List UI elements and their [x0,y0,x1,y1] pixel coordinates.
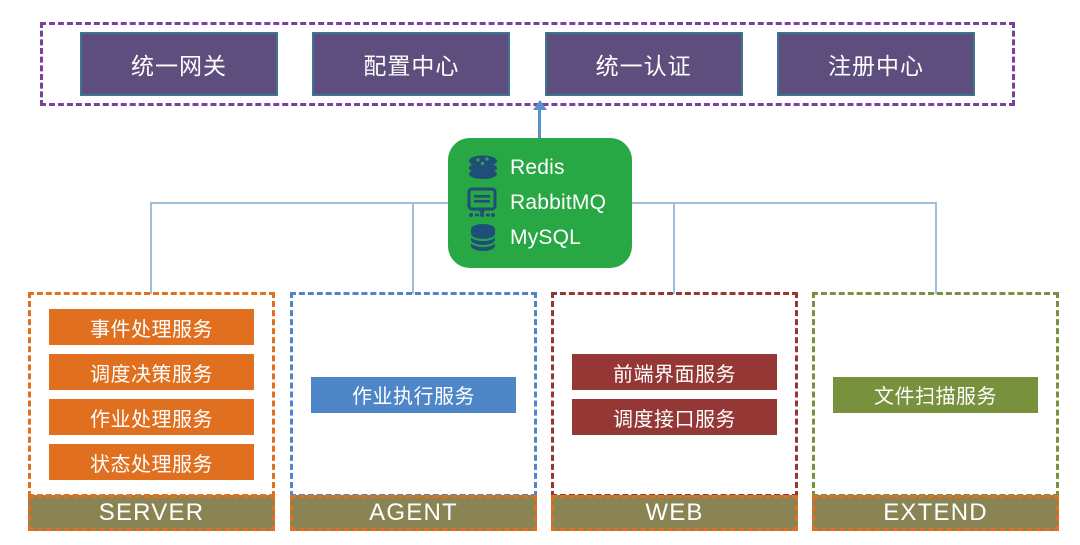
middleware-item-redis[interactable]: Redis [466,151,632,185]
connector-left-bus [150,202,450,204]
connector-right-bus [630,202,935,204]
service-label: 作业执行服务 [352,380,475,409]
service-status-processing[interactable]: 状态处理服务 [49,444,254,480]
platform-box-unified-auth[interactable]: 统一认证 [545,32,743,96]
middleware-item-label: Redis [510,156,565,180]
rabbitmq-message-icon [466,187,500,219]
middleware-item-mysql[interactable]: MySQL [466,221,632,255]
zone-label-text: WEB [645,499,703,527]
platform-box-label: 统一认证 [596,47,692,81]
service-label: 调度接口服务 [613,403,736,432]
platform-box-label: 统一网关 [131,47,227,81]
mysql-database-icon [466,222,500,254]
middleware-item-rabbitmq[interactable]: RabbitMQ [466,186,632,220]
platform-box-label: 注册中心 [828,47,924,81]
architecture-diagram: 统一网关 配置中心 统一认证 注册中心 [0,0,1080,545]
platform-box-registry-center[interactable]: 注册中心 [777,32,975,96]
service-label: 文件扫描服务 [874,380,997,409]
platform-row: 统一网关 配置中心 统一认证 注册中心 [40,22,1015,106]
service-label: 调度决策服务 [90,358,213,387]
middleware-box[interactable]: Redis RabbitMQ [448,138,632,268]
zone-extend: 文件扫描服务 [812,292,1059,497]
connector-drop-extend [935,202,937,294]
platform-box-label: 配置中心 [363,47,459,81]
zone-agent: 作业执行服务 [290,292,537,497]
platform-box-unified-gateway[interactable]: 统一网关 [80,32,278,96]
zone-agent-services: 作业执行服务 [293,295,534,494]
zone-label-web: WEB [551,495,798,531]
zone-extend-services: 文件扫描服务 [815,295,1056,494]
zone-label-agent: AGENT [290,495,537,531]
service-label: 状态处理服务 [90,448,213,477]
zone-label-text: AGENT [369,499,458,527]
service-event-processing[interactable]: 事件处理服务 [49,309,254,345]
service-schedule-api[interactable]: 调度接口服务 [572,399,777,435]
service-job-processing[interactable]: 作业处理服务 [49,399,254,435]
service-job-execution[interactable]: 作业执行服务 [311,377,516,413]
platform-box-config-center[interactable]: 配置中心 [312,32,510,96]
zone-label-extend: EXTEND [812,495,1059,531]
zone-web: 前端界面服务 调度接口服务 [551,292,798,497]
zone-label-text: EXTEND [883,499,988,527]
middleware-item-label: MySQL [510,226,581,250]
redis-layers-icon [466,152,500,184]
zone-server: 事件处理服务 调度决策服务 作业处理服务 状态处理服务 [28,292,275,497]
service-schedule-decision[interactable]: 调度决策服务 [49,354,254,390]
middleware-item-label: RabbitMQ [510,191,606,215]
zone-label-server: SERVER [28,495,275,531]
service-file-scan[interactable]: 文件扫描服务 [833,377,1038,413]
connector-drop-web [673,202,675,294]
arrow-shaft-middleware-to-platform [538,106,541,138]
connector-drop-server [150,202,152,294]
zone-server-services: 事件处理服务 调度决策服务 作业处理服务 状态处理服务 [31,295,272,494]
service-label: 前端界面服务 [613,358,736,387]
connector-drop-agent [412,202,414,294]
zone-web-services: 前端界面服务 调度接口服务 [554,295,795,494]
service-label: 作业处理服务 [90,403,213,432]
service-frontend-ui[interactable]: 前端界面服务 [572,354,777,390]
service-label: 事件处理服务 [90,313,213,342]
zone-label-text: SERVER [99,499,204,527]
